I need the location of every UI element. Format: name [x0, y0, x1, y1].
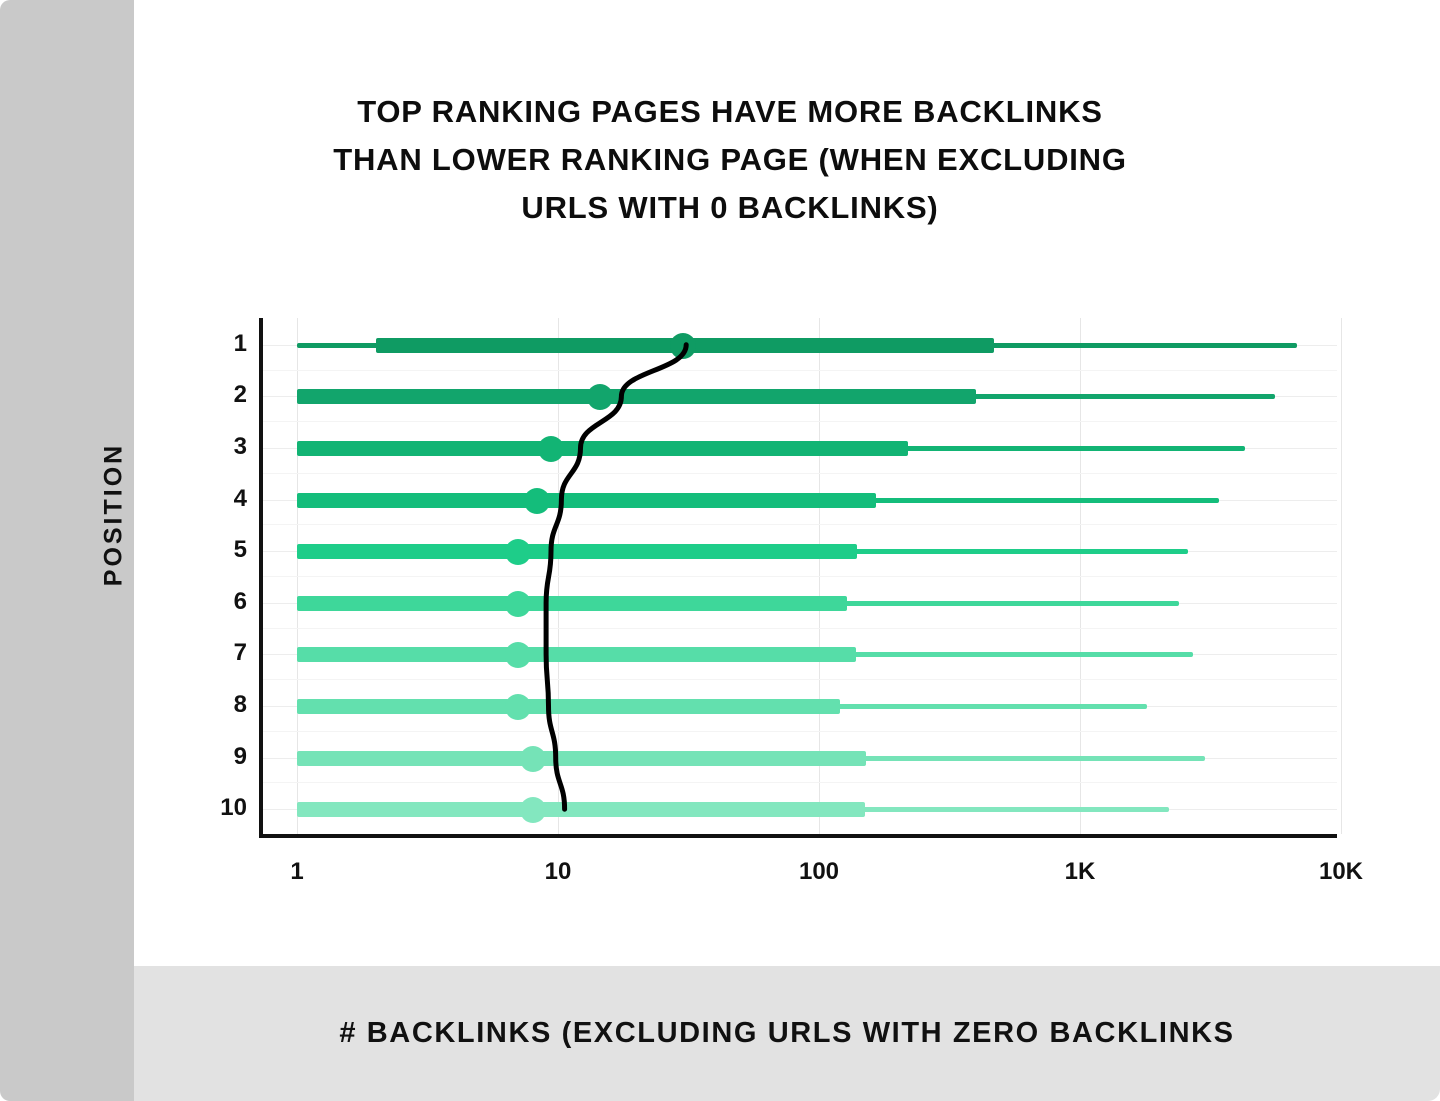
boxplot-row[interactable] [263, 371, 1337, 423]
median-marker [587, 384, 613, 410]
interquartile-box [297, 544, 857, 559]
x-tick-labels: 1101001K10K [259, 858, 1337, 898]
x-axis-title: # BACKLINKS (EXCLUDING URLS WITH ZERO BA… [134, 966, 1440, 1101]
y-tick-labels: 12345678910 [185, 318, 247, 834]
y-tick-label: 4 [195, 485, 247, 513]
x-axis-line [259, 834, 1337, 838]
interquartile-box [297, 699, 840, 714]
median-marker [538, 436, 564, 462]
x-tick-label: 10K [1319, 858, 1363, 886]
y-tick-label: 8 [195, 691, 247, 719]
median-marker [520, 746, 546, 772]
boxplot-row[interactable] [263, 629, 1337, 681]
y-tick-label: 7 [195, 639, 247, 667]
boxplot-row[interactable] [263, 578, 1337, 630]
boxplot-row[interactable] [263, 784, 1337, 836]
x-tick-label: 10 [545, 858, 572, 886]
boxplot-row[interactable] [263, 526, 1337, 578]
y-tick-label: 9 [195, 743, 247, 771]
y-tick-label: 1 [195, 330, 247, 358]
interquartile-box [297, 596, 847, 611]
interquartile-box [297, 647, 856, 662]
boxplot-row[interactable] [263, 423, 1337, 475]
median-marker [670, 333, 696, 359]
boxplot-row[interactable] [263, 320, 1337, 372]
chart-title: TOP RANKING PAGES HAVE MORE BACKLINKS TH… [230, 88, 1230, 232]
x-tick-label: 1K [1065, 858, 1096, 886]
interquartile-box [297, 441, 908, 456]
median-marker [524, 488, 550, 514]
y-tick-label: 10 [195, 794, 247, 822]
y-tick-label: 6 [195, 588, 247, 616]
interquartile-box [297, 751, 866, 766]
plot-inner [263, 318, 1337, 834]
interquartile-box [297, 802, 865, 817]
vertical-gridline [1341, 318, 1342, 834]
y-axis-title: POSITION [100, 395, 129, 635]
median-marker [505, 591, 531, 617]
interquartile-box [297, 389, 976, 404]
y-tick-label: 2 [195, 381, 247, 409]
median-marker [505, 642, 531, 668]
boxplot-row[interactable] [263, 475, 1337, 527]
plot-area [259, 318, 1337, 834]
chart-page: # BACKLINKS (EXCLUDING URLS WITH ZERO BA… [0, 0, 1440, 1101]
y-tick-label: 5 [195, 536, 247, 564]
median-marker [505, 694, 531, 720]
x-tick-label: 1 [290, 858, 303, 886]
boxplot-row[interactable] [263, 733, 1337, 785]
interquartile-box [297, 493, 876, 508]
median-marker [505, 539, 531, 565]
median-marker [520, 797, 546, 823]
boxplot-row[interactable] [263, 681, 1337, 733]
x-tick-label: 100 [799, 858, 839, 886]
footer-band: # BACKLINKS (EXCLUDING URLS WITH ZERO BA… [134, 966, 1440, 1101]
y-tick-label: 3 [195, 433, 247, 461]
y-axis-line [259, 318, 263, 834]
